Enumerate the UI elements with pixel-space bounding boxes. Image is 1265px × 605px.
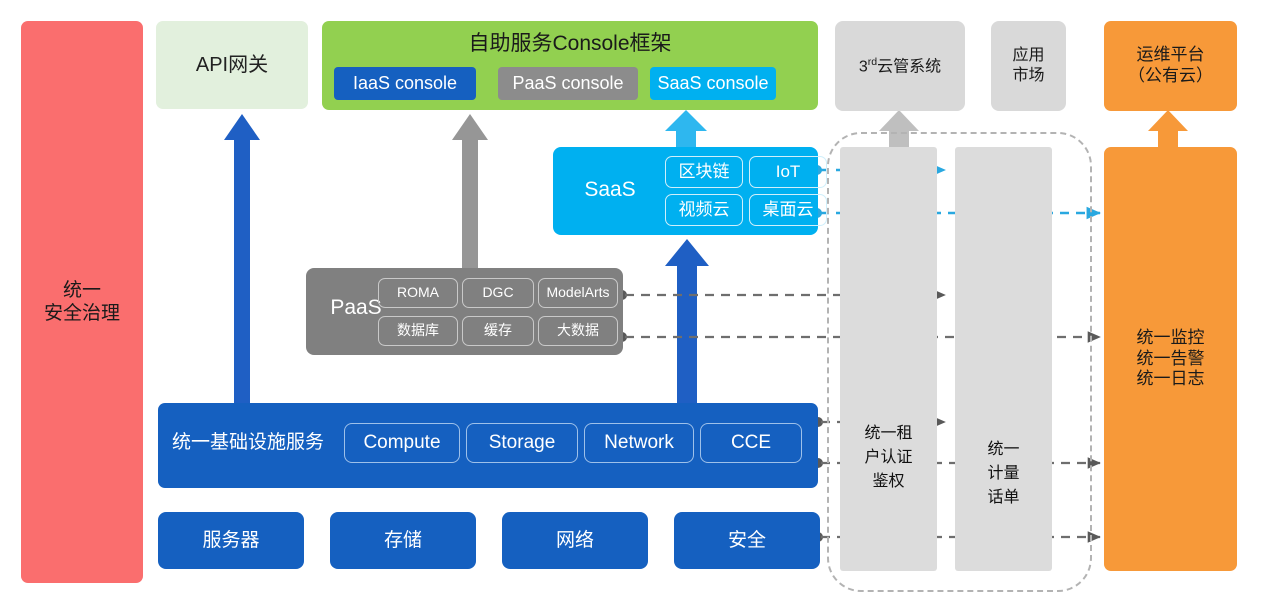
tenant-auth-column: 统一租 户认证 鉴权 [840,147,937,571]
ops-platform-label: 运维平台 （公有云） [1128,45,1213,86]
arrow-paas-to-console [452,114,488,268]
api-gateway-box: API网关 [156,21,308,109]
architecture-diagram: 统一 安全治理 API网关 自助服务Console框架 IaaS console… [0,0,1265,605]
paas-service-roma-label: ROMA [397,284,439,301]
infrastructure-panel: 统一基础设施服务 Compute Storage Network CCE [158,403,818,488]
resource-tile-storage[interactable]: 存储 [330,512,476,569]
saas-service-blockchain[interactable]: 区块链 [665,156,743,188]
paas-service-modelarts[interactable]: ModelArts [538,278,618,308]
paas-service-cache-label: 缓存 [484,322,512,339]
infra-service-cce-label: CCE [731,431,771,454]
arrow-infra-to-saas [665,239,709,405]
unified-security-label: 统一 安全治理 [44,279,120,325]
chip-saas-console[interactable]: SaaS console [650,67,776,100]
infra-service-storage[interactable]: Storage [466,423,578,463]
console-frame-title: 自助服务Console框架 [322,31,818,57]
resource-tile-security-label: 安全 [728,529,766,552]
infra-service-cce[interactable]: CCE [700,423,802,463]
arrow-infra-to-apigw [224,114,260,405]
paas-service-dgc-label: DGC [482,284,513,301]
app-market-label: 应用 市场 [1012,46,1044,85]
unified-security-panel: 统一 安全治理 [21,21,143,583]
saas-service-video-cloud[interactable]: 视频云 [665,194,743,226]
resource-tile-network-label: 网络 [556,529,594,552]
saas-service-iot-label: IoT [776,162,801,183]
infra-service-storage-label: Storage [489,431,556,454]
ops-monitoring-label: 统一监控 统一告警 统一日志 [1137,328,1205,390]
app-market-box: 应用 市场 [991,21,1066,111]
saas-service-iot[interactable]: IoT [749,156,827,188]
resource-tile-storage-label: 存储 [384,529,422,552]
infra-service-compute[interactable]: Compute [344,423,460,463]
paas-panel: PaaS ROMA DGC ModelArts 数据库 缓存 大数据 [306,268,623,355]
chip-saas-console-label: SaaS console [657,73,768,95]
saas-service-video-cloud-label: 视频云 [679,200,730,221]
ops-platform-box: 运维平台 （公有云） [1104,21,1237,111]
resource-tile-network[interactable]: 网络 [502,512,648,569]
third-party-suffix: 云管系统 [877,58,941,75]
third-party-ordinal-suffix: rd [868,56,877,68]
third-party-cloud-mgmt-label: 3rd云管系统 [859,56,941,77]
third-party-prefix: 3 [859,58,868,75]
infra-service-compute-label: Compute [363,431,440,454]
third-party-cloud-mgmt-box: 3rd云管系统 [835,21,965,111]
saas-service-desktop-cloud-label: 桌面云 [763,200,814,221]
arrow-saas-to-saas-console [665,110,707,147]
paas-service-cache[interactable]: 缓存 [462,316,534,346]
paas-service-modelarts-label: ModelArts [546,284,609,301]
chip-paas-console-label: PaaS console [512,73,623,95]
tenant-auth-label: 统一租 户认证 鉴权 [840,419,937,491]
ops-monitoring-panel: 统一监控 统一告警 统一日志 [1104,147,1237,571]
chip-paas-console[interactable]: PaaS console [498,67,638,100]
infra-service-network-label: Network [604,431,674,454]
saas-label: SaaS [567,177,653,203]
resource-tile-server[interactable]: 服务器 [158,512,304,569]
resource-tile-security[interactable]: 安全 [674,512,820,569]
paas-service-bigdata-label: 大数据 [557,322,599,339]
saas-service-blockchain-label: 区块链 [679,162,730,183]
chip-iaas-console[interactable]: IaaS console [334,67,476,100]
arrow-opsbody-to-opsplatform [1148,110,1188,148]
paas-service-database-label: 数据库 [397,322,439,339]
saas-service-desktop-cloud[interactable]: 桌面云 [749,194,827,226]
paas-service-database[interactable]: 数据库 [378,316,458,346]
paas-service-bigdata[interactable]: 大数据 [538,316,618,346]
api-gateway-label: API网关 [196,53,268,77]
infra-service-network[interactable]: Network [584,423,694,463]
resource-tile-server-label: 服务器 [202,529,259,552]
metering-billing-column: 统一 计量 话单 [955,147,1052,571]
chip-iaas-console-label: IaaS console [353,73,457,95]
console-frame-panel: 自助服务Console框架 IaaS console PaaS console … [322,21,818,110]
infrastructure-label: 统一基础设施服务 [172,431,324,454]
saas-panel: SaaS 区块链 IoT 视频云 桌面云 [553,147,818,235]
paas-service-roma[interactable]: ROMA [378,278,458,308]
metering-billing-label: 统一 计量 话单 [955,435,1052,507]
paas-service-dgc[interactable]: DGC [462,278,534,308]
